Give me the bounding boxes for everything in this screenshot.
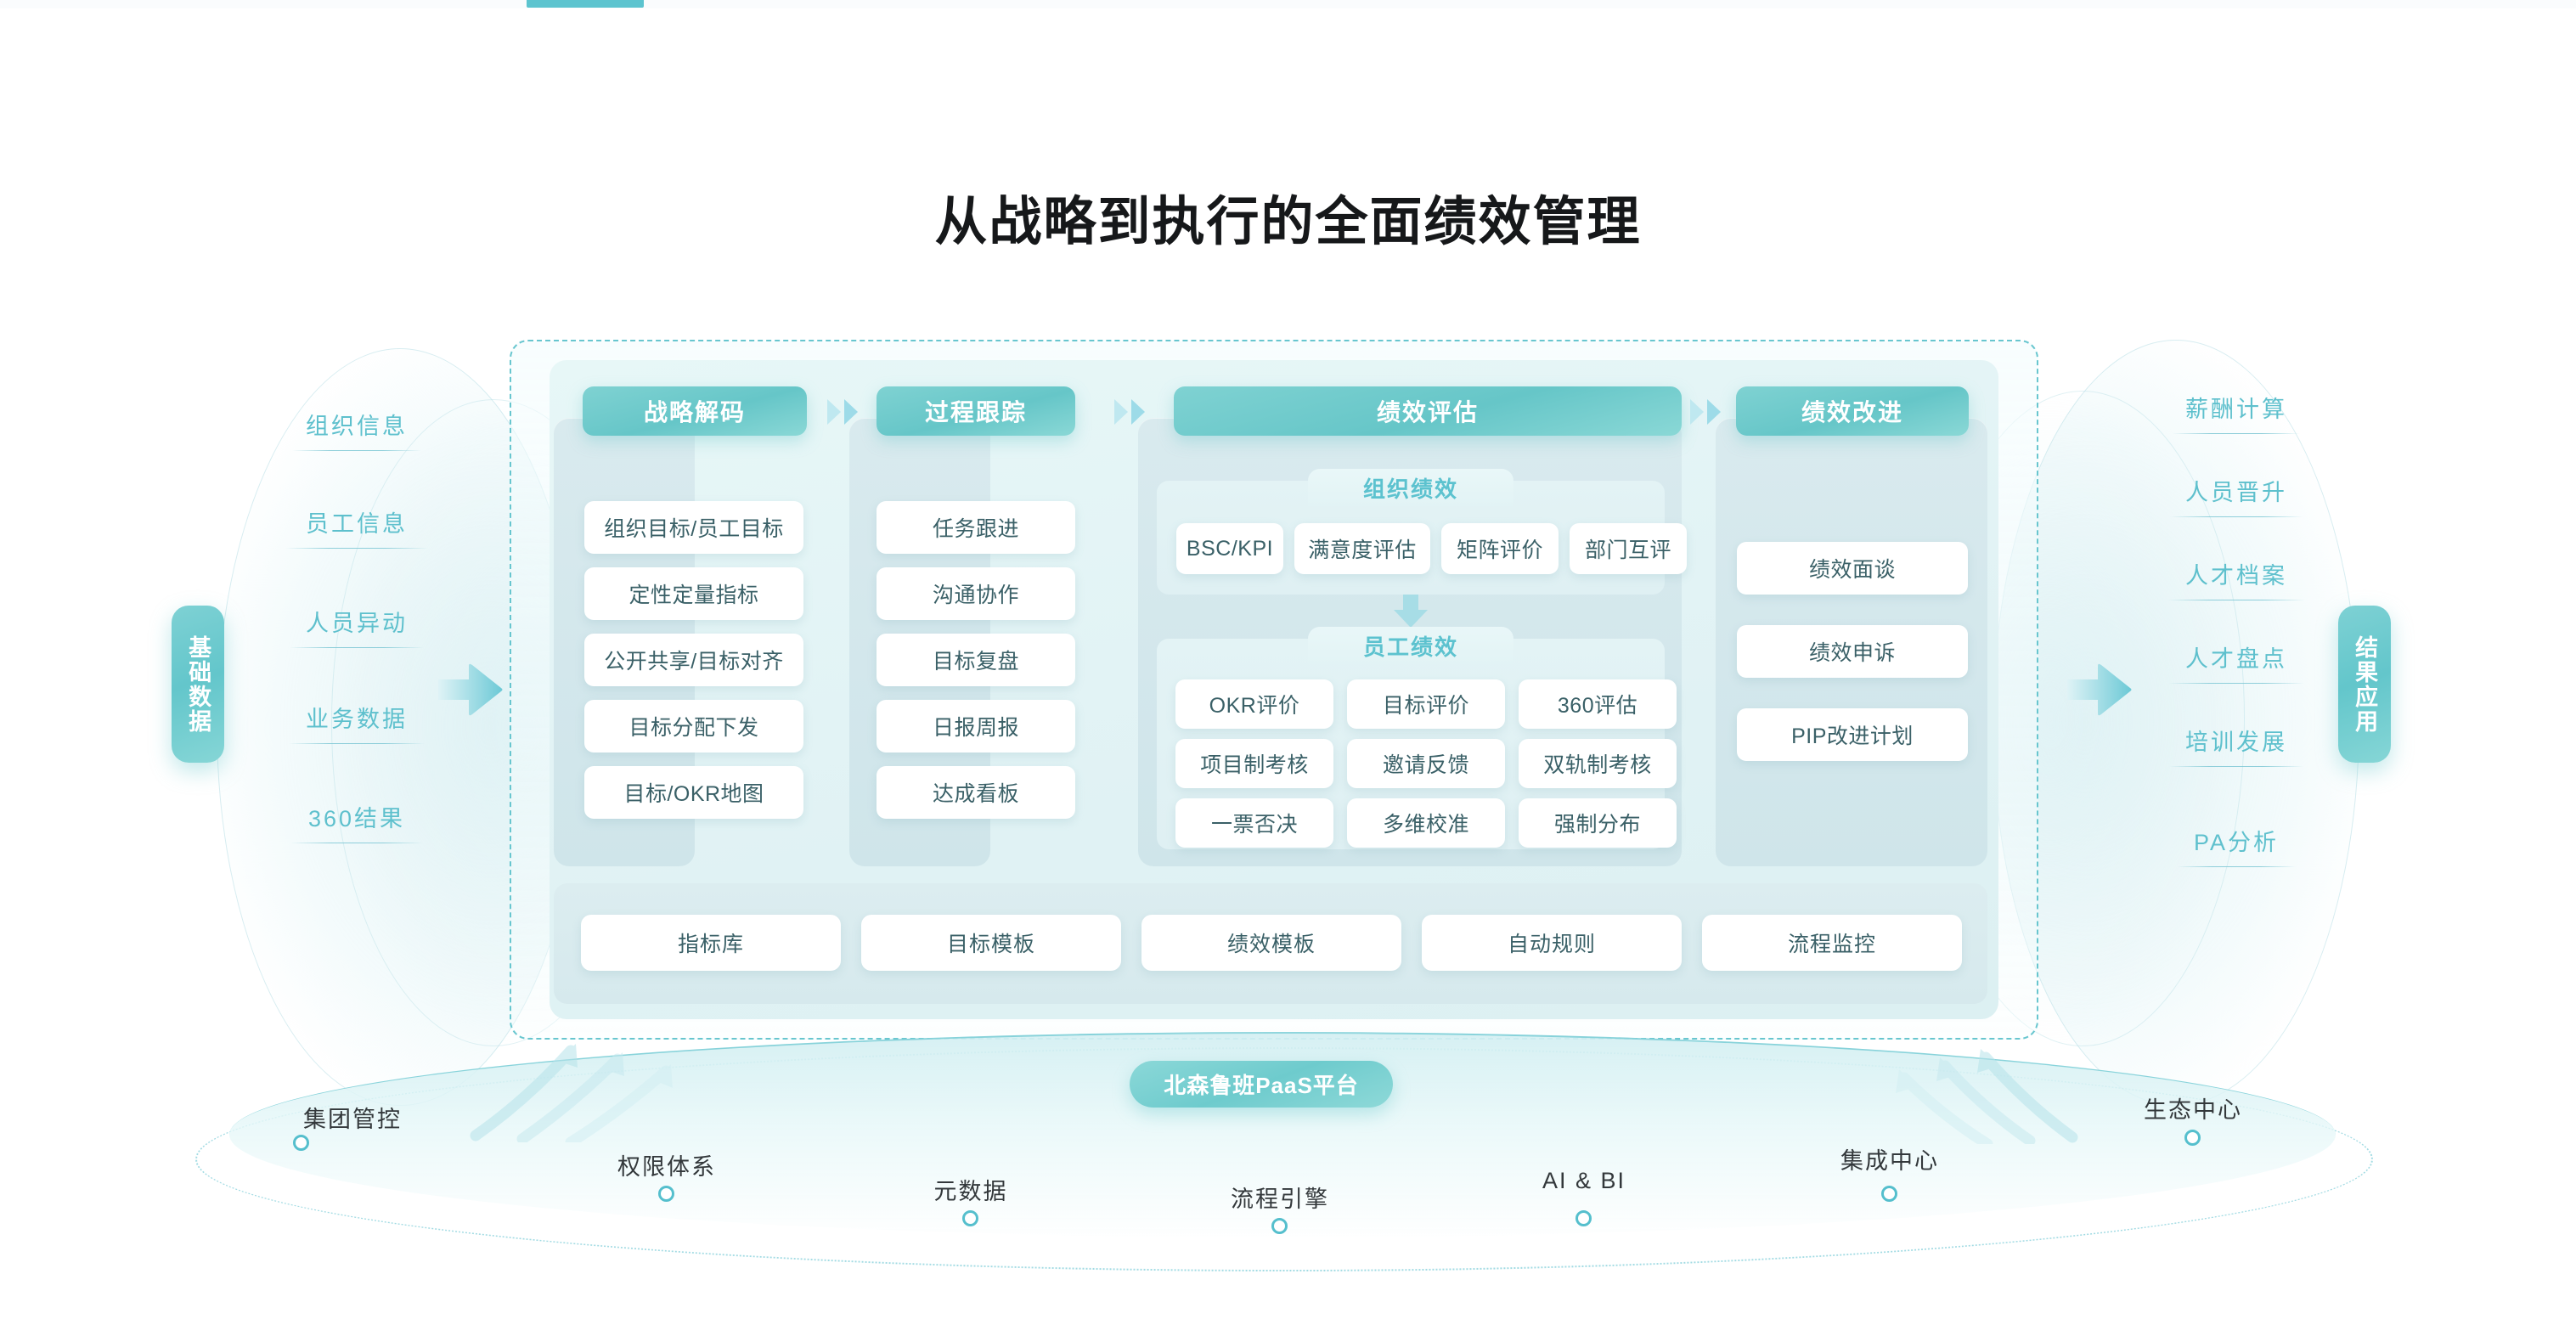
left-rail-rule-4 <box>290 843 423 843</box>
stage-header-label-1: 过程跟踪 <box>925 394 1027 428</box>
chevron-right-icon-2 <box>1688 397 1728 426</box>
platform-label-5[interactable]: 集成中心 <box>1840 1142 1939 1175</box>
stage-0-item-label-3: 目标分配下发 <box>628 711 758 741</box>
org-perf-item-1[interactable]: 满意度评估 <box>1294 523 1430 574</box>
org-perf-label-3: 部门互评 <box>1585 533 1671 564</box>
stage-0-item-label-2: 公开共享/目标对齐 <box>604 645 783 675</box>
left-rail-rule-0 <box>292 450 421 451</box>
right-rail-label-4: 培训发展 <box>2185 724 2287 766</box>
right-rail-rule-2 <box>2167 600 2305 600</box>
stage-3-item-label-2: PIP改进计划 <box>1791 719 1914 750</box>
right-rail-rule-5 <box>2177 866 2296 867</box>
right-rail-label-1: 人员晋升 <box>2185 474 2287 516</box>
emp-perf-item-8[interactable]: 强制分布 <box>1519 798 1677 848</box>
employee-performance-group-title: 员工绩效 <box>1363 630 1458 662</box>
tool-label-4: 流程监控 <box>1788 927 1876 958</box>
stage-0-item-label-1: 定性定量指标 <box>628 578 758 609</box>
platform-dot-3 <box>1271 1218 1288 1234</box>
emp-perf-item-1[interactable]: 目标评价 <box>1347 679 1505 729</box>
inflow-arrow-icon <box>438 662 503 717</box>
org-performance-group-title: 组织绩效 <box>1363 472 1458 504</box>
stage-0-item-1[interactable]: 定性定量指标 <box>584 567 803 620</box>
top-strip <box>0 0 2576 8</box>
right-rail-item-3[interactable]: 人才盘点 <box>2096 640 2376 684</box>
stage-3-item-0[interactable]: 绩效面谈 <box>1737 542 1968 595</box>
stage-header-3[interactable]: 绩效改进 <box>1736 386 1969 436</box>
stage-1-item-1[interactable]: 沟通协作 <box>877 567 1075 620</box>
stage-0-item-label-4: 目标/OKR地图 <box>623 777 764 808</box>
emp-perf-item-5[interactable]: 双轨制考核 <box>1519 739 1677 788</box>
stage-1-item-label-4: 达成看板 <box>933 777 1019 808</box>
emp-perf-label-4: 邀请反馈 <box>1383 748 1469 779</box>
right-rail-item-2[interactable]: 人才档案 <box>2096 557 2376 600</box>
top-accent-bar <box>527 0 644 8</box>
tool-item-4[interactable]: 流程监控 <box>1702 915 1962 971</box>
emp-perf-label-7: 多维校准 <box>1383 808 1469 838</box>
platform-label-3[interactable]: 流程引擎 <box>1231 1181 1329 1214</box>
platform-arrows-left-icon <box>442 1040 722 1142</box>
stage-0-item-4[interactable]: 目标/OKR地图 <box>584 766 803 819</box>
outflow-arrow-icon <box>2067 662 2132 717</box>
right-rail-item-4[interactable]: 培训发展 <box>2096 724 2376 767</box>
right-rail-label-0: 薪酬计算 <box>2185 391 2287 433</box>
right-rail-rule-0 <box>2173 433 2300 434</box>
left-rail-label-3: 业务数据 <box>306 701 408 743</box>
tool-label-1: 目标模板 <box>947 927 1035 958</box>
tool-item-0[interactable]: 指标库 <box>581 915 841 971</box>
tool-label-2: 绩效模板 <box>1227 927 1316 958</box>
stage-1-item-label-3: 日报周报 <box>933 711 1019 741</box>
left-rail-label-0: 组织信息 <box>306 408 408 450</box>
tool-label-0: 指标库 <box>678 927 744 958</box>
tool-label-3: 自动规则 <box>1508 927 1596 958</box>
result-application-pill[interactable]: 结果应用 <box>2338 606 2391 763</box>
chevron-right-icon-1 <box>1113 397 1152 426</box>
org-perf-item-3[interactable]: 部门互评 <box>1570 523 1687 574</box>
right-rail-item-1[interactable]: 人员晋升 <box>2096 474 2376 517</box>
stage-3-item-1[interactable]: 绩效申诉 <box>1737 625 1968 678</box>
right-rail-rule-1 <box>2170 516 2303 517</box>
platform-dot-5 <box>1881 1186 1897 1202</box>
platform-dot-6 <box>2184 1130 2201 1146</box>
stage-1-item-2[interactable]: 目标复盘 <box>877 634 1075 686</box>
stage-header-1[interactable]: 过程跟踪 <box>877 386 1075 436</box>
platform-label-1[interactable]: 权限体系 <box>617 1148 716 1181</box>
base-data-pill[interactable]: 基础数据 <box>172 606 224 763</box>
platform-dot-2 <box>962 1210 978 1226</box>
emp-perf-item-2[interactable]: 360评估 <box>1519 679 1677 729</box>
platform-arrows-right-icon <box>1860 1042 2106 1144</box>
stage-1-item-label-0: 任务跟进 <box>933 512 1019 543</box>
stage-1-item-label-1: 沟通协作 <box>933 578 1019 609</box>
stage-header-label-0: 战略解码 <box>644 394 746 428</box>
org-perf-label-0: BSC/KPI <box>1187 537 1273 561</box>
stage-1-item-label-2: 目标复盘 <box>933 645 1019 675</box>
emp-perf-label-0: OKR评价 <box>1209 689 1300 719</box>
right-rail-item-5[interactable]: PA分析 <box>2096 824 2376 867</box>
employee-performance-group-header: 员工绩效 <box>1308 627 1513 664</box>
arrow-down-icon <box>1392 595 1429 628</box>
emp-perf-item-7[interactable]: 多维校准 <box>1347 798 1505 848</box>
left-rail-item-4[interactable]: 360结果 <box>217 800 497 843</box>
stage-1-item-3[interactable]: 日报周报 <box>877 700 1075 753</box>
left-rail-rule-3 <box>289 743 425 744</box>
emp-perf-label-1: 目标评价 <box>1383 689 1469 719</box>
tool-item-3[interactable]: 自动规则 <box>1422 915 1682 971</box>
stage-1-item-4[interactable]: 达成看板 <box>877 766 1075 819</box>
emp-perf-item-3[interactable]: 项目制考核 <box>1175 739 1333 788</box>
emp-perf-label-6: 一票否决 <box>1211 808 1298 838</box>
stage-3-item-2[interactable]: PIP改进计划 <box>1737 708 1968 761</box>
left-rail-item-1[interactable]: 员工信息 <box>217 505 497 549</box>
result-application-pill-label: 结果应用 <box>2352 635 2377 734</box>
tool-item-1[interactable]: 目标模板 <box>861 915 1121 971</box>
page-title: 从战略到执行的全面绩效管理 <box>0 178 2576 255</box>
right-rail-label-2: 人才档案 <box>2185 557 2287 600</box>
platform-label-6[interactable]: 生态中心 <box>2144 1091 2242 1125</box>
stage-0-item-2[interactable]: 公开共享/目标对齐 <box>584 634 803 686</box>
emp-perf-label-8: 强制分布 <box>1554 808 1641 838</box>
org-perf-item-0[interactable]: BSC/KPI <box>1176 523 1283 574</box>
right-rail-rule-3 <box>2168 683 2304 684</box>
right-rail-label-5: PA分析 <box>2194 824 2279 866</box>
emp-perf-item-0[interactable]: OKR评价 <box>1175 679 1333 729</box>
platform-dot-4 <box>1575 1210 1592 1226</box>
left-rail-rule-2 <box>290 647 424 648</box>
stage-0-item-label-0: 组织目标/员工目标 <box>604 512 783 543</box>
base-data-pill-label: 基础数据 <box>185 635 211 734</box>
emp-perf-item-6[interactable]: 一票否决 <box>1175 798 1333 848</box>
paas-platform-pill-label: 北森鲁班PaaS平台 <box>1164 1068 1359 1100</box>
emp-perf-label-5: 双轨制考核 <box>1543 748 1652 779</box>
left-rail-item-0[interactable]: 组织信息 <box>217 408 497 451</box>
org-perf-label-2: 矩阵评价 <box>1457 533 1543 564</box>
stage-header-label-3: 绩效改进 <box>1801 394 1903 428</box>
org-performance-group-header: 组织绩效 <box>1308 469 1513 506</box>
stage-1-item-0[interactable]: 任务跟进 <box>877 501 1075 554</box>
platform-label-0[interactable]: 集团管控 <box>303 1101 402 1134</box>
stage-3-item-label-0: 绩效面谈 <box>1809 553 1896 583</box>
paas-platform-pill[interactable]: 北森鲁班PaaS平台 <box>1130 1061 1393 1108</box>
emp-perf-label-3: 项目制考核 <box>1200 748 1309 779</box>
right-halo-outer <box>1993 340 2359 1106</box>
chevron-right-icon-0 <box>826 397 865 426</box>
org-perf-label-1: 满意度评估 <box>1308 533 1417 564</box>
left-rail-rule-1 <box>285 548 428 549</box>
stage-0-item-0[interactable]: 组织目标/员工目标 <box>584 501 803 554</box>
right-rail-rule-4 <box>2169 766 2303 767</box>
stage-header-2[interactable]: 绩效评估 <box>1174 386 1682 436</box>
stage-header-label-2: 绩效评估 <box>1377 394 1479 428</box>
left-rail-label-2: 人员异动 <box>306 605 408 647</box>
stage-header-0[interactable]: 战略解码 <box>583 386 807 436</box>
left-rail-item-2[interactable]: 人员异动 <box>217 605 497 648</box>
org-perf-item-2[interactable]: 矩阵评价 <box>1441 523 1559 574</box>
tool-item-2[interactable]: 绩效模板 <box>1141 915 1401 971</box>
platform-label-2[interactable]: 元数据 <box>934 1173 1008 1206</box>
left-rail-label-1: 员工信息 <box>306 505 408 548</box>
stage-3-item-label-1: 绩效申诉 <box>1809 636 1896 667</box>
emp-perf-item-4[interactable]: 邀请反馈 <box>1347 739 1505 788</box>
platform-dot-1 <box>658 1186 674 1202</box>
platform-dot-0 <box>293 1135 309 1151</box>
left-rail-label-4: 360结果 <box>308 800 405 843</box>
emp-perf-label-2: 360评估 <box>1558 689 1637 719</box>
right-rail-item-0[interactable]: 薪酬计算 <box>2096 391 2376 434</box>
platform-label-4[interactable]: AI & BI <box>1542 1168 1626 1194</box>
right-rail-label-3: 人才盘点 <box>2185 640 2287 683</box>
stage-0-item-3[interactable]: 目标分配下发 <box>584 700 803 753</box>
